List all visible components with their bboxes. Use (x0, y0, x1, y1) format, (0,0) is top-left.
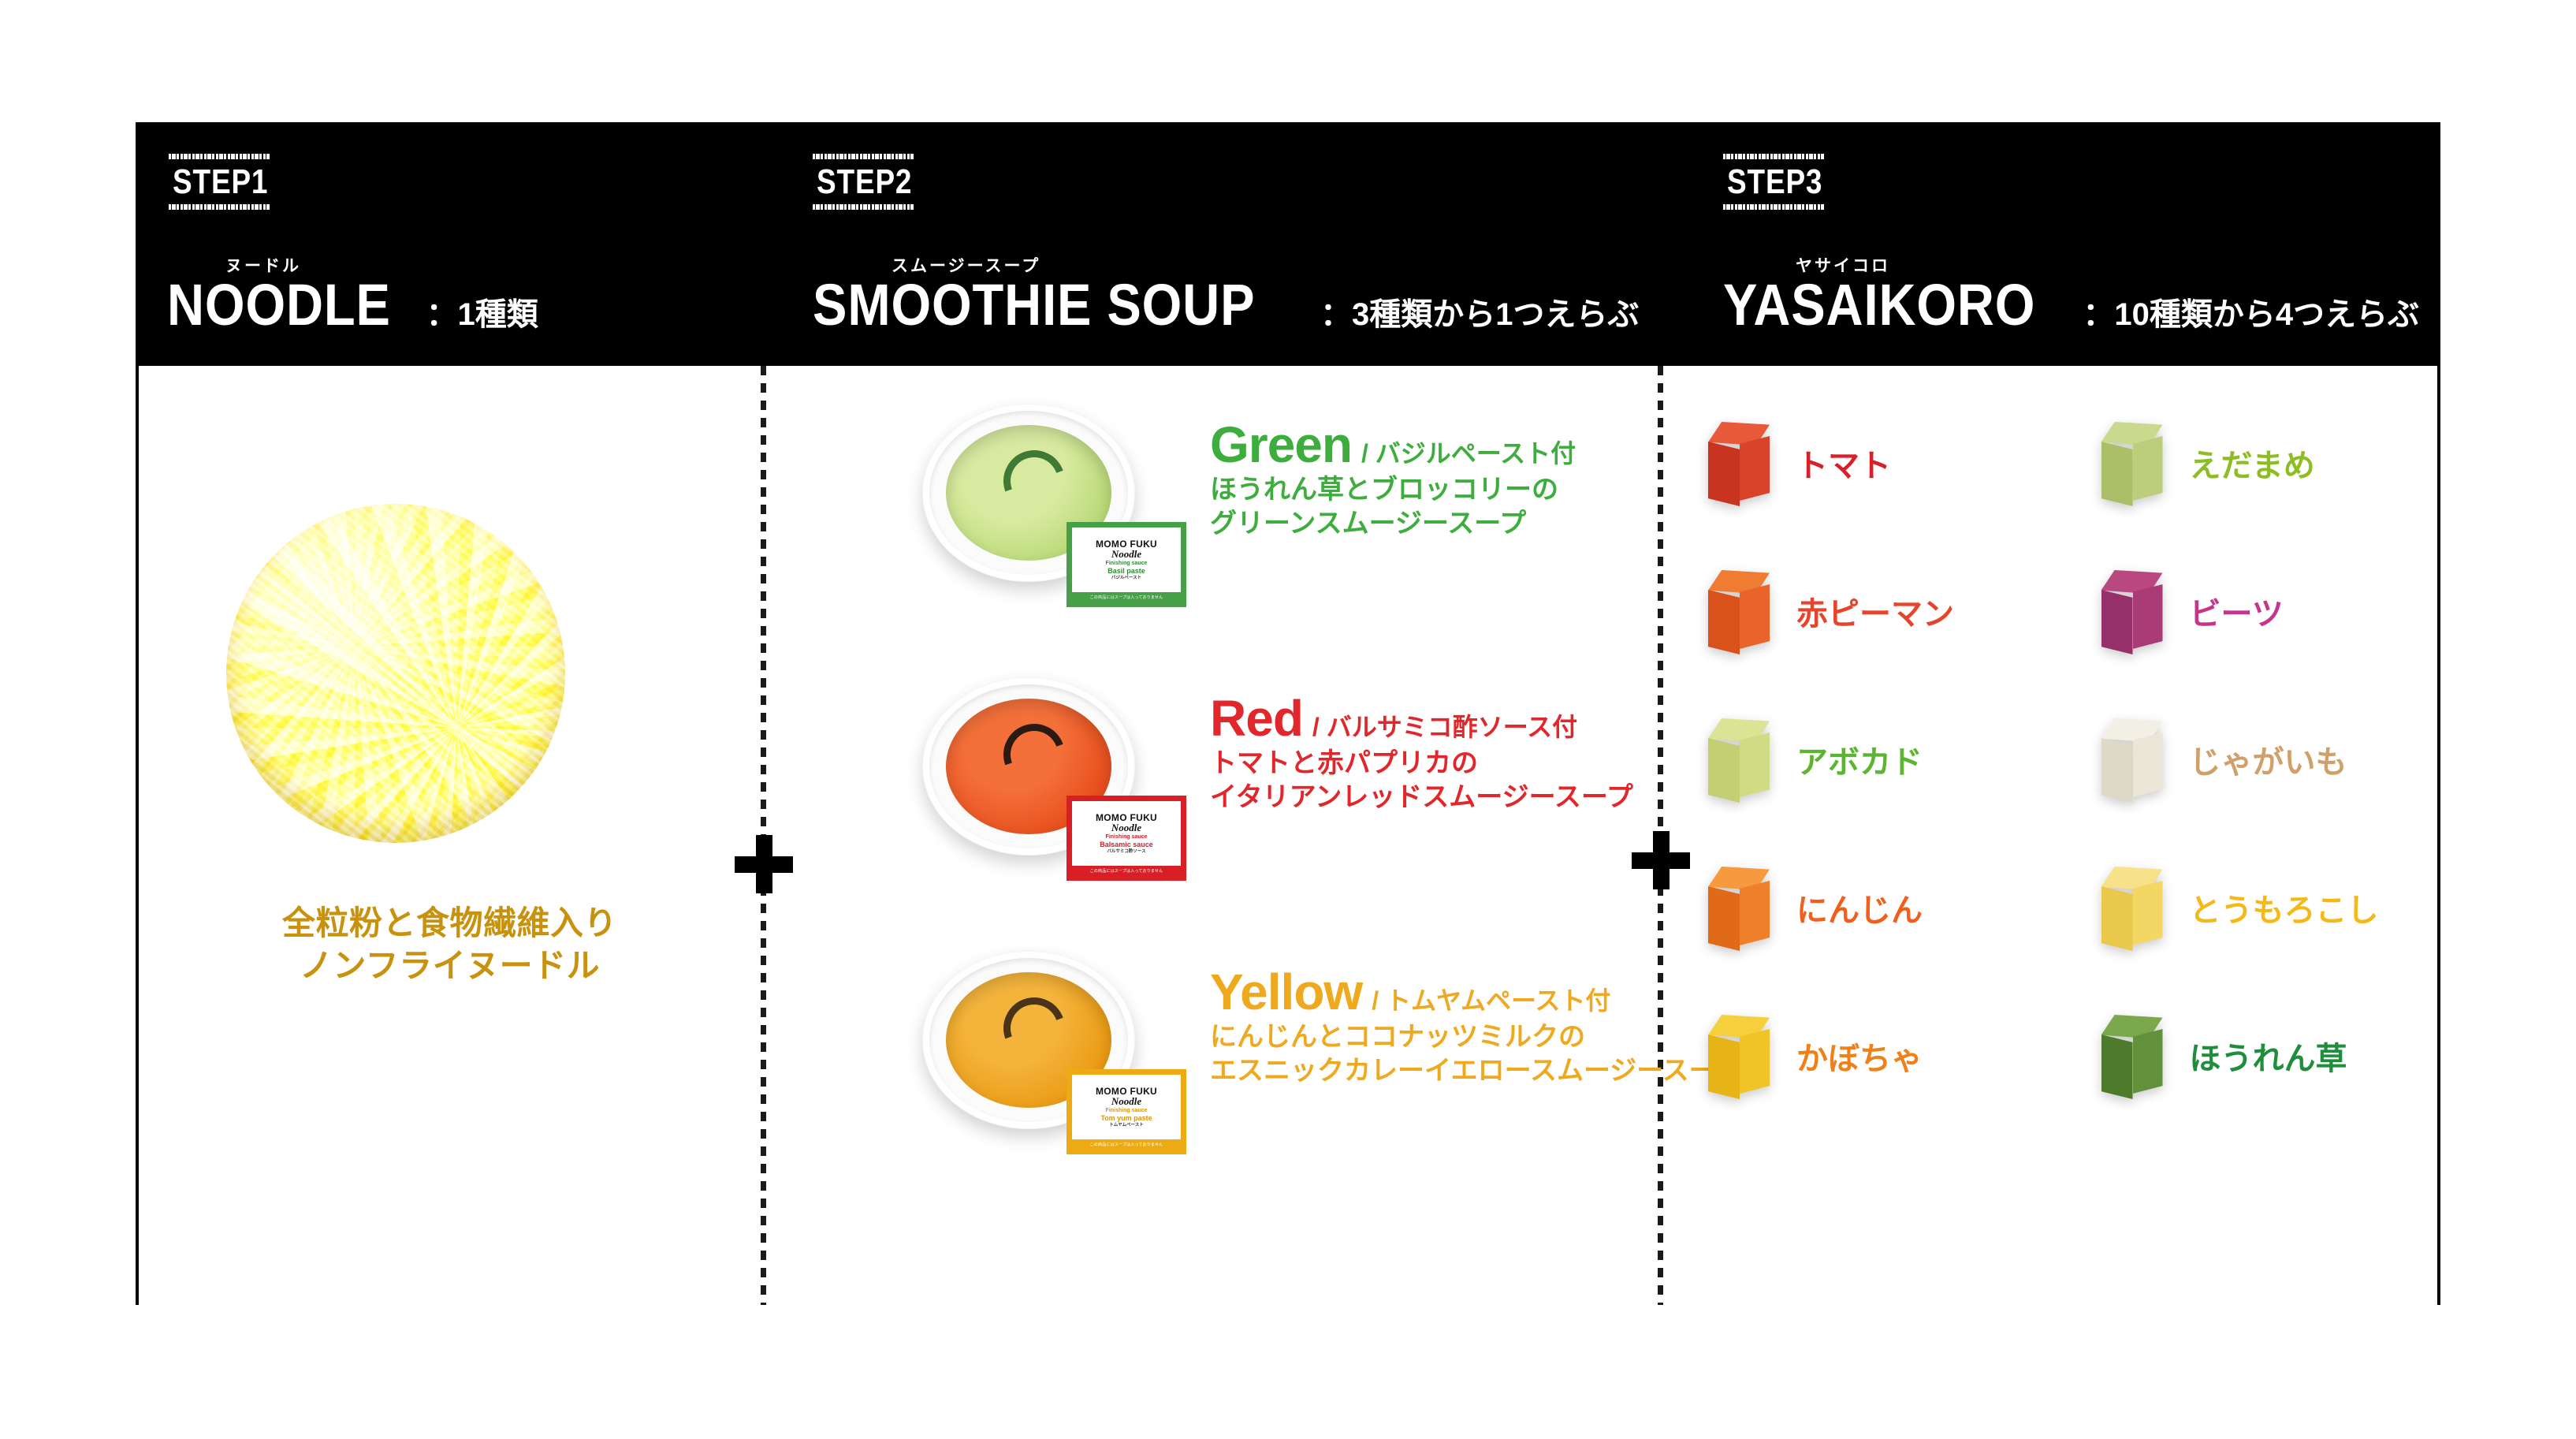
steps-body: 全粒粉と食物繊維入り ノンフライヌードル MOMO FUKU Noodle Fi… (139, 366, 2437, 1305)
packet-sauce-name-jp: トムヤムペースト (1109, 1123, 1144, 1128)
packet-finishing: Finishing sauce (1106, 834, 1148, 841)
infographic-frame: STEP1 ヌードル NOODLE ：1種類 STEP2 スムージースープ SM… (136, 122, 2440, 1305)
cube-face-right (2133, 733, 2163, 797)
cube-face-right (2133, 1029, 2163, 1094)
soup-heading: Yellow / トムヤムペースト付 (1210, 967, 1651, 1017)
vegetable-cube-icon (1703, 867, 1779, 955)
sauce-packet-red: MOMO FUKU Noodle Finishing sauce Balsami… (1067, 796, 1186, 881)
badge-rule-bottom (1723, 204, 1824, 210)
soup-text-yellow: Yellow / トムヤムペースト付 にんじんとココナッツミルクの エスニックカ… (1210, 967, 1651, 1088)
step3-badge-label: STEP3 (1723, 159, 1824, 204)
soup-subtitle: / バルサミコ酢ソース付 (1312, 714, 1577, 740)
cube-face-right (1740, 733, 1770, 797)
cube-face-right (2133, 436, 2163, 501)
step2-badge-label: STEP2 (813, 159, 914, 204)
step3-title-en: YASAIKORO (1723, 278, 2035, 333)
soup-text-green: Green / バジルペースト付 ほうれん草とブロッコリーの グリーンスムージー… (1210, 419, 1651, 541)
soup-desc-line1: トマトと赤パプリカの (1210, 747, 1651, 781)
step3-badge: STEP3 (1723, 154, 1843, 210)
vegetable-item[interactable]: 赤ピーマン (1658, 546, 2051, 683)
soup-heading: Green / バジルペースト付 (1210, 419, 1651, 470)
vegetable-item[interactable]: ビーツ (2051, 546, 2444, 683)
packet-footnote: この商品にはスープは入っておりません (1072, 868, 1181, 874)
step2-title-row: SMOOTHIE SOUP ：3種類から1つえらぶ (813, 278, 1639, 333)
cube-face-left (1708, 738, 1740, 803)
cube-face-left (2101, 1035, 2133, 1099)
vegetable-cube-icon (1703, 422, 1779, 510)
noodle-caption-line2: ノンフライヌードル (139, 945, 761, 987)
step2-content: MOMO FUKU Noodle Finishing sauce Basil p… (761, 366, 1658, 1305)
vegetable-label: かぼちゃ (1796, 1043, 1923, 1075)
vegetable-cube-icon (1703, 570, 1779, 658)
vegetable-label: とうもろこし (2190, 895, 2379, 926)
vegetable-label: えだまめ (2190, 450, 2315, 482)
vegetable-grid: トマトえだまめ赤ピーマンビーツアボカドじゃがいもにんじんとうもろこしかぼちゃほう… (1658, 397, 2444, 1128)
cube-face-right (2133, 584, 2163, 649)
badge-rule-bottom (169, 204, 270, 210)
packet-script: Noodle (1111, 1096, 1141, 1107)
cube-face-left (2101, 886, 2133, 951)
soup-subtitle: / トムヤムペースト付 (1372, 988, 1610, 1013)
cube-face-right (1740, 881, 1770, 945)
vegetable-item[interactable]: トマト (1658, 397, 2051, 535)
vegetable-label: トマト (1796, 450, 1891, 482)
soup-text-red: Red / バルサミコ酢ソース付 トマトと赤パプリカの イタリアンレッドスムージ… (1210, 693, 1651, 815)
vegetable-label: ビーツ (2190, 598, 2284, 630)
step1-badge-label: STEP1 (169, 159, 270, 204)
step1-content: 全粒粉と食物繊維入り ノンフライヌードル (139, 366, 761, 1305)
vegetable-cube-icon (1703, 1015, 1779, 1103)
soup-name: Green (1210, 419, 1352, 470)
step2-badge: STEP2 (813, 154, 932, 210)
cube-face-right (1740, 1029, 1770, 1094)
cube-face-left (2101, 590, 2133, 654)
vegetable-cube-icon (1703, 718, 1779, 807)
step3-title-row: YASAIKORO ：10種類から4つえらぶ (1723, 278, 2419, 333)
vegetable-cube-icon (2097, 867, 2172, 955)
soup-desc-line1: にんじんとココナッツミルクの (1210, 1020, 1651, 1054)
step3-header: STEP3 ヤサイコロ YASAIKORO ：10種類から4つえらぶ (1699, 125, 2444, 366)
cube-face-right (2133, 881, 2163, 945)
packet-finishing: Finishing sauce (1106, 1108, 1148, 1114)
badge-rule-bottom (813, 204, 914, 210)
noodle-photo (226, 504, 565, 843)
step3-title-jp: ：10種類から4つえらぶ (2083, 299, 2419, 330)
packet-sauce-name: Tom yum paste (1100, 1114, 1152, 1122)
vegetable-item[interactable]: とうもろこし (2051, 842, 2444, 979)
packet-script: Noodle (1111, 549, 1141, 560)
packet-sauce-name: Basil paste (1107, 567, 1145, 575)
sauce-packet-green: MOMO FUKU Noodle Finishing sauce Basil p… (1067, 522, 1186, 607)
cube-face-left (1708, 1035, 1740, 1099)
soup-option-yellow[interactable]: MOMO FUKU Noodle Finishing sauce Tom yum… (761, 937, 1658, 1205)
packet-script: Noodle (1111, 822, 1141, 833)
vegetable-label: じゃがいも (2190, 747, 2347, 778)
packet-label: MOMO FUKU Noodle Finishing sauce Balsami… (1072, 801, 1181, 866)
vegetable-item[interactable]: ほうれん草 (2051, 990, 2444, 1128)
badge-rule-top (1723, 154, 1824, 159)
step1-header: STEP1 ヌードル NOODLE ：1種類 (139, 125, 789, 366)
step2-title-en: SMOOTHIE SOUP (813, 278, 1255, 333)
packet-footnote: この商品にはスープは入っておりません (1072, 595, 1181, 600)
vegetable-label: にんじん (1796, 895, 1923, 926)
step1-title-row: NOODLE ：1種類 (167, 278, 538, 333)
soup-desc-line2: イタリアンレッドスムージースープ (1210, 781, 1651, 815)
vegetable-cube-icon (2097, 1015, 2172, 1103)
vegetable-cube-icon (2097, 570, 2172, 658)
soup-desc-line2: グリーンスムージースープ (1210, 507, 1651, 541)
step1-title-en: NOODLE (167, 278, 391, 333)
packet-finishing: Finishing sauce (1106, 561, 1148, 567)
soup-subtitle: / バジルペースト付 (1361, 441, 1576, 466)
vegetable-cube-icon (2097, 422, 2172, 510)
step2-title-jp: ：3種類から1つえらぶ (1320, 299, 1640, 330)
packet-label: MOMO FUKU Noodle Finishing sauce Basil p… (1072, 528, 1181, 592)
soup-name: Yellow (1210, 967, 1362, 1017)
soup-desc-line1: ほうれん草とブロッコリーの (1210, 473, 1651, 507)
vegetable-label: ほうれん草 (2190, 1043, 2347, 1075)
vegetable-item[interactable]: にんじん (1658, 842, 2051, 979)
packet-sauce-name-jp: バジルペースト (1111, 576, 1141, 581)
soup-option-green[interactable]: MOMO FUKU Noodle Finishing sauce Basil p… (761, 390, 1658, 658)
soup-desc-line2: エスニックカレーイエロースムージースープ (1210, 1054, 1651, 1088)
step2-header: STEP2 スムージースープ SMOOTHIE SOUP ：3種類から1つえらぶ (789, 125, 1699, 366)
vegetable-label: 赤ピーマン (1796, 598, 1954, 630)
cube-face-left (2101, 442, 2133, 506)
cube-face-left (1708, 590, 1740, 654)
badge-rule-top (813, 154, 914, 159)
cube-face-right (1740, 584, 1770, 649)
noodle-caption: 全粒粉と食物繊維入り ノンフライヌードル (139, 902, 761, 987)
vegetable-item[interactable]: かぼちゃ (1658, 990, 2051, 1128)
step-header-band: STEP1 ヌードル NOODLE ：1種類 STEP2 スムージースープ SM… (139, 125, 2437, 366)
cube-face-right (1740, 436, 1770, 501)
soup-description: ほうれん草とブロッコリーの グリーンスムージースープ (1210, 473, 1651, 541)
step1-title-jp: ：1種類 (426, 299, 538, 330)
cube-face-left (2101, 738, 2133, 803)
step3-content: トマトえだまめ赤ピーマンビーツアボカドじゃがいもにんじんとうもろこしかぼちゃほう… (1658, 366, 2444, 1305)
soup-description: トマトと赤パプリカの イタリアンレッドスムージースープ (1210, 747, 1651, 815)
soup-name: Red (1210, 693, 1303, 744)
noodle-caption-line1: 全粒粉と食物繊維入り (139, 902, 761, 945)
cube-face-left (1708, 886, 1740, 951)
packet-sauce-name: Balsamic sauce (1100, 841, 1153, 848)
soup-description: にんじんとココナッツミルクの エスニックカレーイエロースムージースープ (1210, 1020, 1651, 1088)
sauce-packet-yellow: MOMO FUKU Noodle Finishing sauce Tom yum… (1067, 1069, 1186, 1154)
vegetable-cube-icon (2097, 718, 2172, 807)
vegetable-item[interactable]: じゃがいも (2051, 694, 2444, 831)
soup-option-red[interactable]: MOMO FUKU Noodle Finishing sauce Balsami… (761, 663, 1658, 931)
vegetable-item[interactable]: えだまめ (2051, 397, 2444, 535)
vegetable-item[interactable]: アボカド (1658, 694, 2051, 831)
vegetable-label: アボカド (1796, 747, 1923, 778)
soup-heading: Red / バルサミコ酢ソース付 (1210, 693, 1651, 744)
packet-label: MOMO FUKU Noodle Finishing sauce Tom yum… (1072, 1075, 1181, 1139)
step1-badge: STEP1 (169, 154, 288, 210)
packet-footnote: この商品にはスープは入っておりません (1072, 1142, 1181, 1147)
packet-sauce-name-jp: バルサミコ酢ソース (1107, 849, 1145, 855)
badge-rule-top (169, 154, 270, 159)
cube-face-left (1708, 442, 1740, 506)
